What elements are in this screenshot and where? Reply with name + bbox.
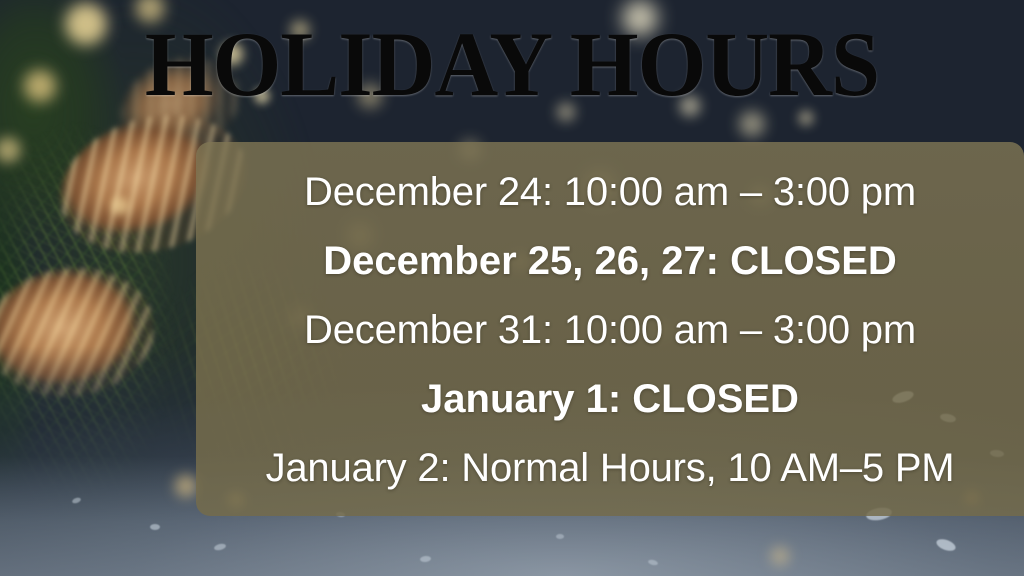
holiday-hours-graphic: HOLIDAY HOURS December 24: 10:00 am – 3:… (0, 0, 1024, 576)
snow-particle (556, 534, 564, 539)
bokeh-light (109, 195, 131, 217)
hours-line-5: January 2: Normal Hours, 10 AM–5 PM (222, 434, 998, 503)
snow-particle (150, 524, 160, 530)
page-title: HOLIDAY HOURS (20, 22, 1003, 106)
hours-line-4: January 1: CLOSED (222, 365, 998, 434)
holiday-hours-panel: December 24: 10:00 am – 3:00 pm December… (196, 142, 1024, 516)
bokeh-light (768, 544, 792, 568)
hours-line-2: December 25, 26, 27: CLOSED (222, 227, 998, 296)
hours-line-1: December 24: 10:00 am – 3:00 pm (222, 158, 998, 227)
hours-line-3: December 31: 10:00 am – 3:00 pm (222, 296, 998, 365)
